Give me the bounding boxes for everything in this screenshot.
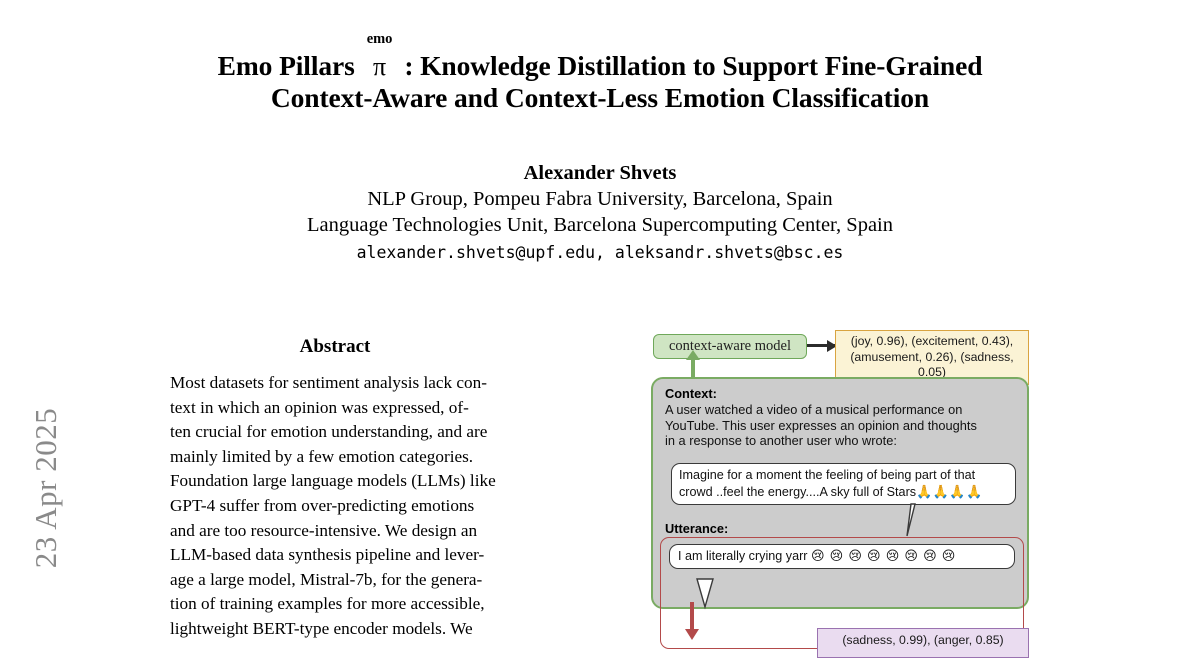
utterance-text: I am literally crying yarr	[678, 549, 807, 563]
context-container: Context: A user watched a video of a mus…	[651, 377, 1029, 609]
abstract-heading: Abstract	[170, 336, 500, 358]
abstract-line: LLM-based data synthesis pipeline and le…	[170, 543, 500, 568]
context-line: A user watched a video of a musical perf…	[665, 402, 1021, 418]
abstract-line: mainly limited by a few emotion categori…	[170, 445, 500, 470]
quote-bubble-tail-icon	[889, 504, 923, 538]
context-label: Context:	[665, 386, 717, 401]
crying-face-emoji: 😢 😢 😢 😢 😢 😢 😢 😢	[811, 549, 956, 564]
utterance-bubble-tail-icon	[691, 579, 725, 609]
title-text-after-logo: : Knowledge Distillation to Support Fine…	[404, 50, 982, 81]
context-description: A user watched a video of a musical perf…	[665, 402, 1021, 449]
abstract-line: Foundation large language models (LLMs) …	[170, 469, 500, 494]
abstract-line: age a large model, Mistral-7b, for the g…	[170, 568, 500, 593]
paper-title: Emo Pillars emo π : Knowledge Distillati…	[150, 50, 1050, 113]
abstract-section: Abstract Most datasets for sentiment ana…	[170, 336, 500, 642]
prediction-line-1: (joy, 0.96), (excitement, 0.43),	[838, 334, 1026, 350]
title-line-2: Context-Aware and Context-Less Emotion C…	[150, 82, 1050, 113]
author-emails[interactable]: alexander.shvets@upf.edu, aleksandr.shve…	[150, 240, 1050, 266]
context-aware-model-box: context-aware model	[653, 334, 807, 359]
arrow-down-icon	[690, 602, 694, 630]
abstract-line: Most datasets for sentiment analysis lac…	[170, 371, 500, 396]
quote-line-1: Imagine for a moment the feeling of bein…	[679, 467, 1008, 484]
title-text-before-logo: Emo Pillars	[218, 50, 355, 81]
author-affiliation-1: NLP Group, Pompeu Fabra University, Barc…	[150, 186, 1050, 212]
abstract-line: GPT-4 suffer from over-predicting emotio…	[170, 494, 500, 519]
quote-line-2: crowd ..feel the energy....A sky full of…	[679, 484, 1008, 502]
title-line-1: Emo Pillars emo π : Knowledge Distillati…	[150, 50, 1050, 82]
abstract-line: and are too resource-intensive. We desig…	[170, 519, 500, 544]
author-affiliation-2: Language Technologies Unit, Barcelona Su…	[150, 212, 1050, 238]
abstract-body: Most datasets for sentiment analysis lac…	[170, 371, 500, 642]
teaser-figure: context-aware model (joy, 0.96), (excite…	[645, 330, 1035, 648]
utterance-label: Utterance:	[665, 521, 728, 536]
abstract-line: lightweight BERT-type encoder models. We	[170, 617, 500, 642]
praying-hands-emoji: 🙏🙏🙏🙏	[916, 485, 983, 500]
prediction-line-2: (amusement, 0.26), (sadness, 0.05)	[838, 350, 1026, 381]
abstract-line: text in which an opinion was expressed, …	[170, 396, 500, 421]
arxiv-date-stamp: 23 Apr 2025	[28, 378, 64, 598]
author-name: Alexander Shvets	[150, 160, 1050, 186]
quoted-comment-bubble: Imagine for a moment the feeling of bein…	[671, 463, 1016, 505]
arrow-right-icon	[807, 344, 835, 347]
author-block: Alexander Shvets NLP Group, Pompeu Fabra…	[150, 160, 1050, 266]
context-less-predictions-box: (sadness, 0.99), (anger, 0.85)	[817, 628, 1029, 658]
logo-pi-symbol: π	[362, 51, 398, 82]
logo-superscript: emo	[362, 32, 398, 46]
abstract-line: tion of training examples for more acces…	[170, 592, 500, 617]
emo-pillars-logo-icon: emo π	[362, 50, 398, 82]
abstract-line: ten crucial for emotion understanding, a…	[170, 420, 500, 445]
utterance-bubble: I am literally crying yarr 😢 😢 😢 😢 😢 😢 😢…	[669, 544, 1015, 569]
paper-page: 23 Apr 2025 Emo Pillars emo π : Knowledg…	[0, 0, 1200, 648]
context-line: in a response to another user who wrote:	[665, 433, 1021, 449]
context-line: YouTube. This user expresses an opinion …	[665, 418, 1021, 434]
quote-line-2-text: crowd ..feel the energy....A sky full of…	[679, 485, 916, 499]
